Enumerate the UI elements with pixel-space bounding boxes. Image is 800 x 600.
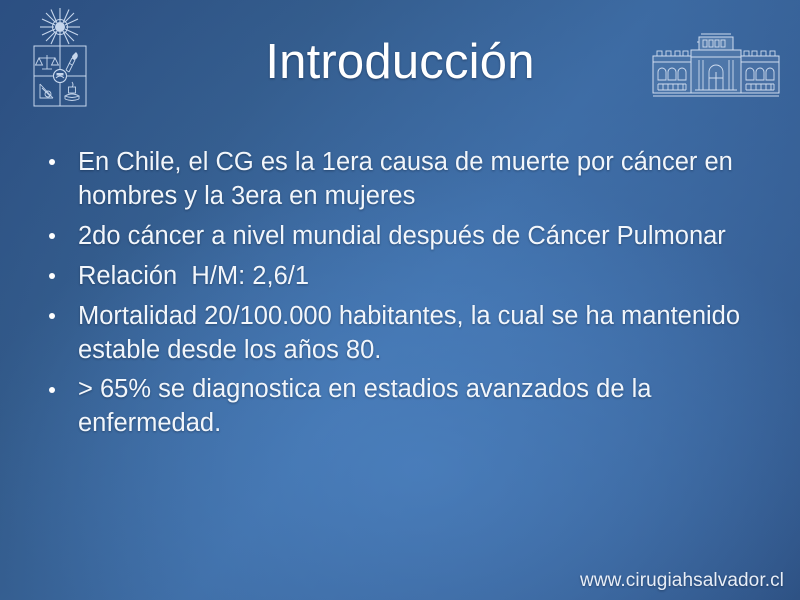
bullet-dot-icon — [49, 387, 55, 393]
bullet-dot-icon — [49, 273, 55, 279]
list-item-text: > 65% se diagnostica en estadios avanzad… — [78, 373, 768, 441]
list-item: En Chile, el CG es la 1era causa de muer… — [40, 146, 768, 214]
list-item-text: En Chile, el CG es la 1era causa de muer… — [78, 146, 768, 214]
list-item: > 65% se diagnostica en estadios avanzad… — [40, 373, 768, 441]
footer-url: www.cirugiahsalvador.cl — [580, 570, 784, 592]
bullet-dot-icon — [49, 313, 55, 319]
list-item-text: Mortalidad 20/100.000 habitantes, la cua… — [78, 300, 768, 368]
list-item-text: 2do cáncer a nivel mundial después de Cá… — [78, 220, 768, 254]
slide-title: Introducción — [0, 34, 800, 91]
list-item: Relación H/M: 2,6/1 — [40, 260, 768, 294]
list-item: 2do cáncer a nivel mundial después de Cá… — [40, 220, 768, 254]
presentation-slide: Introducción En Chile, el CG es la 1era … — [0, 0, 800, 600]
list-item: Mortalidad 20/100.000 habitantes, la cua… — [40, 300, 768, 368]
bullet-dot-icon — [49, 159, 55, 165]
list-item-text: Relación H/M: 2,6/1 — [78, 260, 768, 294]
bullet-dot-icon — [49, 233, 55, 239]
bullet-list: En Chile, el CG es la 1era causa de muer… — [40, 146, 768, 447]
